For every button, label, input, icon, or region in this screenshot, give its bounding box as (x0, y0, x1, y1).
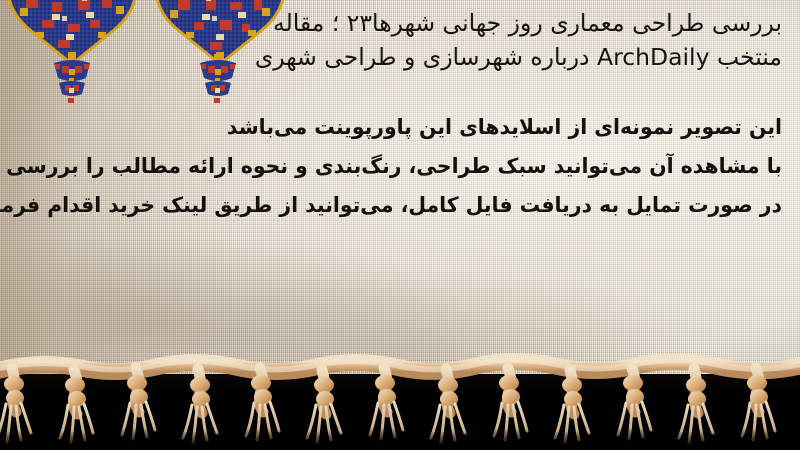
knotted-tassel-fringe (0, 348, 800, 450)
tassel (60, 370, 93, 442)
presentation-slide: بررسی طراحی معماری روز جهانی شهرها۲۳ ؛ م… (0, 0, 800, 450)
body-line-1: این تصویر نمونه‌ای از اسلایدهای این پاور… (35, 108, 782, 147)
tassel (0, 368, 31, 442)
tassel (370, 368, 403, 439)
tassel (679, 369, 713, 442)
persian-carpet-pendant-icon (46, 54, 98, 104)
tassel (555, 370, 589, 442)
tassel (307, 370, 341, 442)
slide-title-line-2: منتخب ArchDaily درباره شهرسازی و طراحی ش… (214, 40, 782, 74)
tassel (618, 368, 651, 439)
body-line-3: در صورت تمایل به دریافت فایل کامل، می‌تو… (35, 186, 782, 225)
carpet-ornament-group (0, 0, 250, 104)
slide-title-line-1: بررسی طراحی معماری روز جهانی شهرها۲۳ ؛ م… (214, 6, 782, 40)
slide-body-text: این تصویر نمونه‌ای از اسلایدهای این پاور… (12, 108, 782, 225)
tassel (494, 368, 527, 440)
slide-title: بررسی طراحی معماری روز جهانی شهرها۲۳ ؛ م… (214, 6, 782, 74)
tassel (183, 369, 217, 442)
tassel (431, 369, 465, 442)
body-line-2: با مشاهده آن می‌توانید سبک طراحی، رنگ‌بن… (35, 147, 782, 186)
